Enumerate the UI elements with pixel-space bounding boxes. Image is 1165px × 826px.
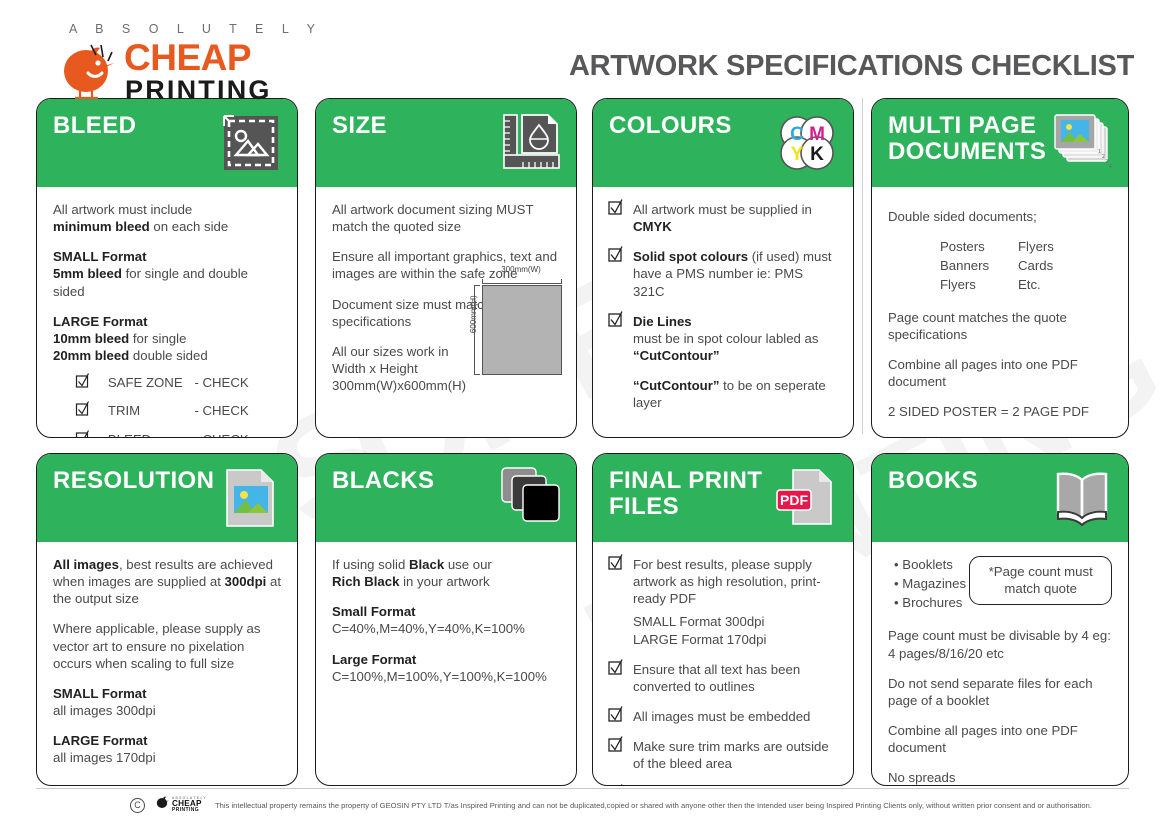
blacks-p1: If using solid Black use our Rich Black … bbox=[332, 556, 560, 590]
ruler-document-icon bbox=[498, 111, 562, 175]
finalprint-sub2: LARGE Format 170dpi bbox=[633, 632, 766, 647]
blacks-p1-d: Rich Black bbox=[332, 574, 399, 589]
footer-disclaimer: This intellectual property remains the p… bbox=[215, 801, 1092, 810]
checkbox-images-embedded[interactable] bbox=[609, 709, 623, 723]
books-p3: Combine all pages into one PDF document bbox=[888, 722, 1112, 756]
resolution-small-text: all images 300dpi bbox=[53, 703, 156, 718]
footer-logo-printing: PRINTING bbox=[172, 808, 207, 813]
svg-text:4: 4 bbox=[1109, 164, 1112, 170]
svg-text:C: C bbox=[790, 124, 804, 145]
size-dimension-diagram: 300mm(W) 600mm(H) bbox=[450, 265, 570, 377]
bleed-check-status-2: - CHECK bbox=[194, 402, 281, 419]
finalprint-sub1: SMALL Format 300dpi bbox=[633, 614, 764, 629]
colours-footer-bold: “CutContour” bbox=[633, 378, 719, 393]
books-bullet-2: • Magazines bbox=[894, 575, 967, 592]
finalprint-item-1-text: For best results, please supply artwork … bbox=[633, 556, 837, 607]
card-multipage-body: Double sided documents; Posters Banners … bbox=[872, 187, 1128, 438]
card-blacks-header: BLACKS bbox=[316, 454, 576, 542]
colours-footer-note: “CutContour” to be on seperate layer bbox=[609, 377, 837, 411]
books-bullet-1: • Booklets bbox=[894, 556, 967, 573]
multipage-col2-item3: Etc. bbox=[1018, 276, 1096, 293]
multipage-p2: Page count matches the quote specificati… bbox=[888, 309, 1112, 343]
bird-mascot-icon bbox=[60, 41, 124, 106]
books-p1: Page count must be divisable by 4 eg: 4 … bbox=[888, 627, 1112, 661]
blacks-p1-a: If using solid bbox=[332, 557, 409, 572]
image-file-icon bbox=[219, 466, 283, 530]
finalprint-item-3-text: All images must be embedded bbox=[633, 708, 837, 725]
svg-text:2: 2 bbox=[1102, 154, 1105, 160]
multipage-p3: Combine all pages into one PDF document bbox=[888, 356, 1112, 390]
pdf-file-icon: PDF bbox=[775, 466, 839, 530]
bleed-small-heading: SMALL Format bbox=[53, 249, 147, 264]
multipage-col1-item2: Banners bbox=[940, 257, 1018, 274]
multipage-p4: 2 SIDED POSTER = 2 PAGE PDF bbox=[888, 403, 1112, 420]
size-p4-line1: All our sizes work in bbox=[332, 344, 449, 359]
blacks-p1-b: Black bbox=[409, 557, 444, 572]
colours-item-3-rest: must be in spot colour labled as bbox=[633, 331, 818, 346]
blacks-small-heading: Small Format bbox=[332, 604, 416, 619]
books-callout-box: *Page count must match quote bbox=[969, 556, 1112, 605]
colours-item-1-lead: All artwork must be supplied in bbox=[633, 202, 812, 217]
card-multipage: MULTI PAGE DOCUMENTS 1 2 3 4 bbox=[871, 98, 1129, 438]
bleed-check-row-1[interactable]: SAFE ZONE - CHECK bbox=[53, 372, 281, 393]
card-finalprint: FINAL PRINT FILES PDF For best results, … bbox=[592, 453, 854, 786]
card-size-title: SIZE bbox=[332, 113, 497, 139]
card-books-body: • Booklets • Magazines • Brochures *Page… bbox=[872, 542, 1128, 786]
card-bleed: BLEED All artwork must include minimum b… bbox=[36, 98, 298, 438]
finalprint-item-4[interactable]: Make sure trim marks are outside of the … bbox=[609, 738, 837, 772]
card-colours-header: COLOURS C M Y K bbox=[593, 99, 853, 187]
logo-tagline: A B S O L U T E L Y bbox=[69, 22, 322, 36]
page-footer: C ABSOLUTELY CHEAP PRINTING This intelle… bbox=[0, 788, 1165, 826]
card-books-title: BOOKS bbox=[888, 468, 1053, 494]
multipage-col1-item3: Flyers bbox=[940, 276, 1018, 293]
size-p4-line2: Width x Height bbox=[332, 361, 418, 376]
resolution-large-text: all images 170dpi bbox=[53, 750, 156, 765]
svg-text:Y: Y bbox=[791, 144, 804, 165]
bleed-intro-bold: minimum bleed bbox=[53, 219, 150, 234]
card-books-header: BOOKS bbox=[872, 454, 1128, 542]
checkbox-cmyk[interactable] bbox=[609, 202, 623, 216]
logo-printing: PRINTING bbox=[125, 77, 272, 104]
card-multipage-title: MULTI PAGE DOCUMENTS bbox=[888, 113, 1053, 165]
brand-logo: A B S O L U T E L Y CHEAP PRINTING bbox=[31, 22, 361, 94]
multipage-p1: Double sided documents; bbox=[888, 208, 1112, 225]
books-top-section: • Booklets • Magazines • Brochures *Page… bbox=[888, 556, 1112, 613]
books-bullet-1-label: Booklets bbox=[902, 557, 953, 572]
books-bullet-2-label: Magazines bbox=[902, 576, 966, 591]
bleed-large-format: LARGE Format 10mm bleed for single 20mm … bbox=[53, 313, 281, 364]
card-bleed-title: BLEED bbox=[53, 113, 218, 139]
footer-bird-icon bbox=[156, 796, 169, 814]
multipage-product-columns: Posters Banners Flyers Flyers Cards Etc. bbox=[888, 238, 1112, 295]
blacks-p1-e: in your artwork bbox=[399, 574, 489, 589]
colours-item-2[interactable]: Solid spot colours (if used) must have a… bbox=[609, 248, 837, 299]
bleed-small-bold: 5mm bleed bbox=[53, 266, 122, 281]
svg-text:K: K bbox=[810, 144, 824, 165]
card-resolution-title: RESOLUTION bbox=[53, 468, 218, 494]
svg-text:1: 1 bbox=[1098, 149, 1101, 155]
card-resolution: RESOLUTION All images, best results are … bbox=[36, 453, 298, 786]
copyright-icon: C bbox=[130, 798, 145, 813]
card-colours-body: All artwork must be supplied in CMYK Sol… bbox=[593, 187, 853, 431]
blacks-small-text: C=40%,M=40%,Y=40%,K=100% bbox=[332, 621, 525, 636]
bleed-intro-rest: on each side bbox=[150, 219, 228, 234]
colours-item-2-bold: Solid spot colours bbox=[633, 249, 748, 264]
finalprint-item-1[interactable]: For best results, please supply artwork … bbox=[609, 556, 837, 607]
multipage-col2-item1: Flyers bbox=[1018, 238, 1096, 255]
colours-item-1[interactable]: All artwork must be supplied in CMYK bbox=[609, 201, 837, 235]
checklist-grid: BLEED All artwork must include minimum b… bbox=[0, 98, 1165, 788]
size-diagram-width-bar bbox=[482, 279, 562, 284]
checkbox-text-outlines[interactable] bbox=[609, 662, 623, 676]
resolution-small-heading: SMALL Format bbox=[53, 686, 147, 701]
svg-text:M: M bbox=[809, 124, 825, 145]
open-book-icon bbox=[1050, 466, 1114, 530]
card-bleed-header: BLEED bbox=[37, 99, 297, 187]
blacks-large-text: C=100%,M=100%,Y=100%,K=100% bbox=[332, 669, 547, 684]
stacked-black-squares-icon bbox=[498, 466, 562, 530]
checkbox-trim[interactable] bbox=[75, 400, 108, 421]
colours-item-3-text: Die Lines must be in spot colour labled … bbox=[633, 313, 837, 364]
bleed-check-label-1: SAFE ZONE bbox=[108, 374, 195, 391]
colours-item-1-text: All artwork must be supplied in CMYK bbox=[633, 201, 837, 235]
card-finalprint-body: For best results, please supply artwork … bbox=[593, 542, 853, 786]
checkbox-safe-zone[interactable] bbox=[75, 372, 108, 393]
resolution-p1-bold2: 300dpi bbox=[225, 574, 267, 589]
finalprint-item-2[interactable]: Ensure that all text has been converted … bbox=[609, 661, 837, 695]
multipage-col1-item1: Posters bbox=[940, 238, 1018, 255]
card-blacks-body: If using solid Black use our Rich Black … bbox=[316, 542, 576, 704]
card-size-body: All artwork document sizing MUST match t… bbox=[316, 187, 576, 413]
resolution-large-heading: LARGE Format bbox=[53, 733, 148, 748]
size-diagram-width-label: 300mm(W) bbox=[482, 265, 560, 275]
page-title: ARTWORK SPECIFICATIONS CHECKLIST bbox=[569, 50, 1134, 83]
books-bullet-list: • Booklets • Magazines • Brochures bbox=[888, 556, 967, 613]
blacks-small-format: Small Format C=40%,M=40%,Y=40%,K=100% bbox=[332, 603, 560, 637]
footer-divider bbox=[36, 788, 1129, 789]
card-multipage-header: MULTI PAGE DOCUMENTS 1 2 3 4 bbox=[872, 99, 1128, 187]
card-resolution-header: RESOLUTION bbox=[37, 454, 297, 542]
card-books: BOOKS • Booklets • Magazines • Brochures… bbox=[871, 453, 1129, 786]
checkbox-die-lines[interactable] bbox=[609, 314, 623, 328]
bleed-check-row-2[interactable]: TRIM - CHECK bbox=[53, 400, 281, 421]
resolution-p1-bold1: All images bbox=[53, 557, 119, 572]
multipage-col-2: Flyers Cards Etc. bbox=[1018, 238, 1096, 295]
bleed-check-status-1: - CHECK bbox=[194, 374, 281, 391]
checkbox-spot-colours[interactable] bbox=[609, 249, 623, 263]
cmyk-circles-icon: C M Y K bbox=[775, 111, 839, 175]
card-colours-title: COLOURS bbox=[609, 113, 774, 139]
size-diagram-height-bar bbox=[474, 285, 480, 375]
card-size-header: SIZE bbox=[316, 99, 576, 187]
card-blacks-title: BLACKS bbox=[332, 468, 497, 494]
size-diagram-rect bbox=[482, 285, 562, 375]
bleed-large1-rest: for single bbox=[129, 331, 186, 346]
multipage-col2-item2: Cards bbox=[1018, 257, 1096, 274]
books-p4: No spreads bbox=[888, 769, 1112, 786]
colours-item-2-text: Solid spot colours (if used) must have a… bbox=[633, 248, 837, 299]
logo-cheap: CHEAP bbox=[124, 39, 251, 76]
checkbox-trim-marks[interactable] bbox=[609, 739, 623, 753]
bleed-check-list: SAFE ZONE - CHECK TRIM - CHECK BLEED - C… bbox=[53, 372, 281, 438]
blacks-large-heading: Large Format bbox=[332, 652, 416, 667]
colours-item-3-bold: Die Lines bbox=[633, 314, 692, 329]
bleed-large1-bold: 10mm bleed bbox=[53, 331, 129, 346]
card-finalprint-title: FINAL PRINT FILES bbox=[609, 468, 774, 520]
blacks-large-format: Large Format C=100%,M=100%,Y=100%,K=100% bbox=[332, 651, 560, 685]
bleed-large2-rest: double sided bbox=[129, 348, 207, 363]
finalprint-item-4-text: Make sure trim marks are outside of the … bbox=[633, 738, 837, 772]
blacks-p1-c: use our bbox=[444, 557, 492, 572]
card-size: SIZE All artwork document sizing MUST ma… bbox=[315, 98, 577, 438]
size-p1: All artwork document sizing MUST match t… bbox=[332, 201, 560, 235]
books-p2: Do not send separate files for each page… bbox=[888, 675, 1112, 709]
bleed-check-label-2: TRIM bbox=[108, 402, 195, 419]
card-colours: COLOURS C M Y K All bbox=[592, 98, 854, 438]
books-bullet-3: • Brochures bbox=[894, 594, 967, 611]
svg-text:PDF: PDF bbox=[780, 492, 808, 508]
books-bullet-3-label: Brochures bbox=[902, 595, 962, 610]
finalprint-sub-formats: SMALL Format 300dpi LARGE Format 170dpi bbox=[609, 613, 837, 647]
card-resolution-body: All images, best results are achieved wh… bbox=[37, 542, 297, 786]
bleed-small-format: SMALL Format 5mm bleed for single and do… bbox=[53, 248, 281, 299]
resolution-p1: All images, best results are achieved wh… bbox=[53, 556, 281, 607]
resolution-p2: Where applicable, please supply as vecto… bbox=[53, 620, 281, 671]
bleed-check-label-3: BLEED bbox=[108, 431, 195, 438]
card-blacks: BLACKS If using solid Black use our Rich… bbox=[315, 453, 577, 786]
resolution-large-format: LARGE Format all images 170dpi bbox=[53, 732, 281, 766]
card-finalprint-header: FINAL PRINT FILES PDF bbox=[593, 454, 853, 542]
bleed-frame-image-icon bbox=[219, 111, 283, 175]
footer-mini-logo: ABSOLUTELY CHEAP PRINTING bbox=[172, 797, 207, 814]
stacked-pages-icon: 1 2 3 4 bbox=[1050, 111, 1114, 175]
finalprint-item-2-text: Ensure that all text has been converted … bbox=[633, 661, 837, 695]
page-header: A B S O L U T E L Y CHEAP PRINTING ARTWO… bbox=[0, 0, 1165, 98]
bleed-intro-line1: All artwork must include bbox=[53, 202, 192, 217]
multipage-col-1: Posters Banners Flyers bbox=[940, 238, 1018, 295]
card-bleed-body: All artwork must include minimum bleed o… bbox=[37, 187, 297, 438]
bleed-intro: All artwork must include minimum bleed o… bbox=[53, 201, 281, 235]
colours-item-1-bold: CMYK bbox=[633, 219, 672, 234]
bleed-check-status-3: - CHECK bbox=[194, 431, 281, 438]
colours-item-3-bold2: “CutContour” bbox=[633, 348, 719, 363]
bleed-large-heading: LARGE Format bbox=[53, 314, 148, 329]
size-p4-line3: 300mm(W)x600mm(H) bbox=[332, 378, 466, 393]
bleed-large2-bold: 20mm bleed bbox=[53, 348, 129, 363]
checkbox-high-res-pdf[interactable] bbox=[609, 557, 623, 571]
resolution-small-format: SMALL Format all images 300dpi bbox=[53, 685, 281, 719]
colours-item-3[interactable]: Die Lines must be in spot colour labled … bbox=[609, 313, 837, 364]
checkbox-bleed[interactable] bbox=[75, 429, 108, 438]
bleed-check-row-3[interactable]: BLEED - CHECK bbox=[53, 429, 281, 438]
finalprint-item-3[interactable]: All images must be embedded bbox=[609, 708, 837, 725]
footer-content: C ABSOLUTELY CHEAP PRINTING This intelle… bbox=[130, 796, 1092, 814]
